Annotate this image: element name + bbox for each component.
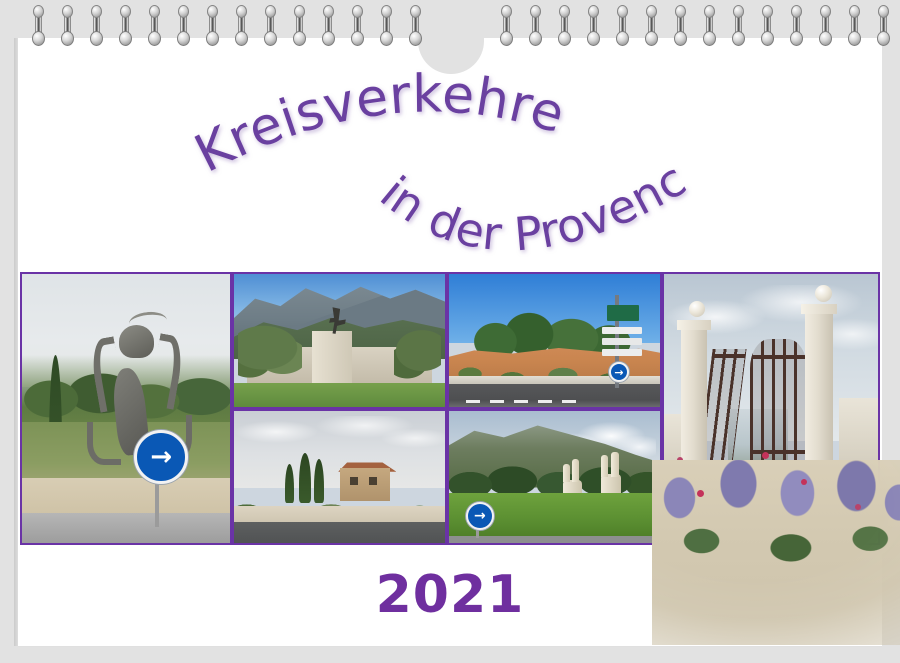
arrow-right-icon: →: [150, 444, 172, 470]
collage-photo-hands-sculpture-roundabout: →: [447, 409, 662, 545]
arrow-right-icon: →: [474, 509, 486, 523]
cover-year: 2021: [0, 565, 900, 625]
blue-arrow-sign-icon: →: [466, 502, 494, 530]
title-line-1: Kreisverkehre: [186, 64, 572, 184]
sign-white-direction: [602, 327, 641, 334]
hanging-hole-notch: [418, 8, 484, 74]
blue-arrow-sign-icon: →: [134, 430, 188, 484]
collage-photo-ochre-hillside-signposts: →: [447, 272, 662, 409]
cover-title: Kreisverkehre in der Provence: [0, 62, 900, 252]
calendar-cover-stage: Kreisverkehre in der Provence: [0, 0, 900, 663]
blue-arrow-sign-icon: →: [609, 362, 629, 382]
collage-photo-wall-sculpture: [232, 272, 447, 409]
sign-white-direction: [602, 338, 641, 345]
sign-green-place: [607, 305, 639, 321]
collage-photo-mantis-roundabout: →: [20, 272, 232, 545]
direction-signpost-group: →: [590, 295, 645, 388]
sign-white-direction: [602, 349, 641, 356]
svg-text:Kreisverkehre: Kreisverkehre: [186, 64, 572, 184]
collage-photo-stone-house-roundabout: [232, 409, 447, 545]
